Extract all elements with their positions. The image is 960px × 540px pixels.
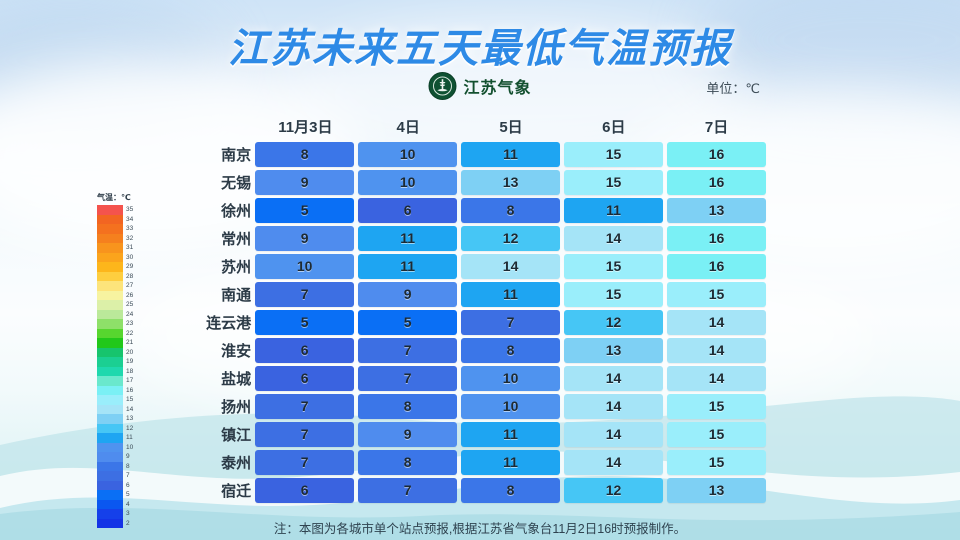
temperature-cell: 7 bbox=[255, 282, 354, 307]
legend-swatch bbox=[97, 310, 123, 320]
legend-value: 20 bbox=[126, 348, 133, 358]
temperature-cell: 14 bbox=[564, 366, 663, 391]
legend-entry: 7 bbox=[97, 471, 133, 481]
temperature-cell: 14 bbox=[564, 394, 663, 419]
legend-swatch bbox=[97, 329, 123, 339]
temperature-cell: 15 bbox=[564, 170, 663, 195]
legend-swatch bbox=[97, 500, 123, 510]
temperature-cell: 13 bbox=[564, 338, 663, 363]
legend-swatch bbox=[97, 291, 123, 301]
legend-value: 7 bbox=[126, 471, 130, 481]
temperature-cell: 8 bbox=[255, 142, 354, 167]
temperature-cell: 15 bbox=[667, 282, 766, 307]
legend-entry: 8 bbox=[97, 462, 133, 472]
legend-swatch bbox=[97, 481, 123, 491]
legend-swatch bbox=[97, 205, 123, 215]
legend-value: 29 bbox=[126, 262, 133, 272]
temperature-cell: 6 bbox=[358, 198, 457, 223]
column-header: 4日 bbox=[359, 116, 458, 137]
legend-entry: 14 bbox=[97, 405, 133, 415]
temperature-cell: 7 bbox=[358, 338, 457, 363]
legend-entry: 15 bbox=[97, 395, 133, 405]
city-label: 无锡 bbox=[170, 172, 255, 193]
temperature-cell: 14 bbox=[667, 366, 766, 391]
legend-value: 33 bbox=[126, 224, 133, 234]
legend-entry: 6 bbox=[97, 481, 133, 491]
table-row: 镇江79111415 bbox=[170, 420, 770, 448]
temperature-cell: 8 bbox=[461, 338, 560, 363]
temperature-cell: 8 bbox=[461, 198, 560, 223]
legend-swatch bbox=[97, 319, 123, 329]
temperature-cell: 7 bbox=[255, 450, 354, 475]
temperature-cell: 7 bbox=[358, 366, 457, 391]
city-label: 常州 bbox=[170, 228, 255, 249]
legend-swatch bbox=[97, 243, 123, 253]
temperature-cell: 9 bbox=[358, 282, 457, 307]
legend-entry: 22 bbox=[97, 329, 133, 339]
city-label: 南通 bbox=[170, 284, 255, 305]
forecast-table: 11月3日4日5日6日7日 南京810111516无锡910131516徐州56… bbox=[170, 112, 770, 504]
legend-swatch bbox=[97, 452, 123, 462]
legend-swatch bbox=[97, 300, 123, 310]
legend-swatch bbox=[97, 215, 123, 225]
legend-swatch bbox=[97, 281, 123, 291]
temperature-cell: 7 bbox=[255, 394, 354, 419]
city-label: 徐州 bbox=[170, 200, 255, 221]
legend-swatch bbox=[97, 471, 123, 481]
legend-swatch bbox=[97, 262, 123, 272]
legend-swatch bbox=[97, 405, 123, 415]
column-header: 6日 bbox=[564, 116, 663, 137]
temperature-cell: 11 bbox=[461, 450, 560, 475]
table-row: 苏州1011141516 bbox=[170, 252, 770, 280]
temperature-cell: 13 bbox=[461, 170, 560, 195]
legend-swatch bbox=[97, 490, 123, 500]
legend-swatch bbox=[97, 386, 123, 396]
legend-swatch bbox=[97, 376, 123, 386]
legend-swatch bbox=[97, 424, 123, 434]
legend-entry: 23 bbox=[97, 319, 133, 329]
legend-entry: 12 bbox=[97, 424, 133, 434]
legend-value: 8 bbox=[126, 462, 130, 472]
temperature-cell: 11 bbox=[358, 226, 457, 251]
legend-value: 34 bbox=[126, 215, 133, 225]
temperature-cell: 11 bbox=[461, 282, 560, 307]
legend-swatch bbox=[97, 462, 123, 472]
temperature-cell: 10 bbox=[461, 394, 560, 419]
temperature-cell: 5 bbox=[255, 310, 354, 335]
legend-entry: 5 bbox=[97, 490, 133, 500]
legend-value: 32 bbox=[126, 234, 133, 244]
legend-entry: 34 bbox=[97, 215, 133, 225]
temperature-cell: 15 bbox=[667, 422, 766, 447]
temperature-cell: 5 bbox=[358, 310, 457, 335]
brand-logo-label: 江苏气象 bbox=[463, 74, 531, 98]
forecast-infographic: 江苏未来五天最低气温预报 江苏气象 单位：℃ 11月3日4日5日6日7日 南京8… bbox=[0, 0, 960, 540]
legend-value: 35 bbox=[126, 205, 133, 215]
page-title: 江苏未来五天最低气温预报 bbox=[0, 16, 960, 74]
legend-swatch bbox=[97, 433, 123, 443]
legend-entry: 17 bbox=[97, 376, 133, 386]
legend-value: 18 bbox=[126, 367, 133, 377]
legend-entry: 21 bbox=[97, 338, 133, 348]
legend-value: 6 bbox=[126, 481, 130, 491]
legend-value: 15 bbox=[126, 395, 133, 405]
city-label: 镇江 bbox=[170, 424, 255, 445]
legend-swatch bbox=[97, 348, 123, 358]
legend-value: 23 bbox=[126, 319, 133, 329]
table-row: 南通79111515 bbox=[170, 280, 770, 308]
legend-entry: 35 bbox=[97, 205, 133, 215]
temperature-cell: 6 bbox=[255, 366, 354, 391]
temperature-cell: 10 bbox=[358, 170, 457, 195]
temperature-cell: 6 bbox=[255, 478, 354, 503]
legend-value: 26 bbox=[126, 291, 133, 301]
legend-value: 25 bbox=[126, 300, 133, 310]
temperature-cell: 12 bbox=[564, 310, 663, 335]
legend-value: 27 bbox=[126, 281, 133, 291]
temperature-cell: 15 bbox=[564, 142, 663, 167]
temperature-legend: 气温：℃ 35343332313029282726252423222120191… bbox=[97, 192, 133, 528]
table-row: 常州911121416 bbox=[170, 224, 770, 252]
legend-entry: 27 bbox=[97, 281, 133, 291]
table-row: 淮安6781314 bbox=[170, 336, 770, 364]
temperature-cell: 15 bbox=[564, 254, 663, 279]
temperature-cell: 7 bbox=[461, 310, 560, 335]
legend-value: 13 bbox=[126, 414, 133, 424]
temperature-cell: 9 bbox=[255, 226, 354, 251]
legend-scale: 3534333231302928272625242322212019181716… bbox=[97, 205, 133, 528]
jiangsu-meteorological-emblem-icon bbox=[428, 72, 456, 100]
legend-entry: 29 bbox=[97, 262, 133, 272]
temperature-cell: 8 bbox=[358, 450, 457, 475]
legend-value: 28 bbox=[126, 272, 133, 282]
column-header: 11月3日 bbox=[256, 116, 355, 137]
legend-title: 气温：℃ bbox=[97, 192, 133, 203]
table-header-row: 11月3日4日5日6日7日 bbox=[256, 112, 770, 140]
temperature-cell: 14 bbox=[564, 422, 663, 447]
legend-value: 24 bbox=[126, 310, 133, 320]
legend-swatch bbox=[97, 253, 123, 263]
legend-entry: 33 bbox=[97, 224, 133, 234]
legend-value: 10 bbox=[126, 443, 133, 453]
legend-value: 21 bbox=[126, 338, 133, 348]
legend-value: 30 bbox=[126, 253, 133, 263]
temperature-cell: 6 bbox=[255, 338, 354, 363]
column-header: 5日 bbox=[462, 116, 561, 137]
temperature-cell: 13 bbox=[667, 478, 766, 503]
temperature-cell: 9 bbox=[255, 170, 354, 195]
temperature-cell: 14 bbox=[667, 338, 766, 363]
legend-entry: 10 bbox=[97, 443, 133, 453]
city-label: 宿迁 bbox=[170, 480, 255, 501]
legend-value: 17 bbox=[126, 376, 133, 386]
legend-swatch bbox=[97, 443, 123, 453]
temperature-cell: 14 bbox=[667, 310, 766, 335]
temperature-cell: 7 bbox=[358, 478, 457, 503]
temperature-cell: 8 bbox=[358, 394, 457, 419]
city-label: 泰州 bbox=[170, 452, 255, 473]
table-row: 扬州78101415 bbox=[170, 392, 770, 420]
temperature-cell: 15 bbox=[564, 282, 663, 307]
temperature-cell: 14 bbox=[461, 254, 560, 279]
legend-entry: 4 bbox=[97, 500, 133, 510]
temperature-cell: 16 bbox=[667, 254, 766, 279]
city-label: 盐城 bbox=[170, 368, 255, 389]
legend-value: 31 bbox=[126, 243, 133, 253]
footer-note: 注：本图为各城市单个站点预报,根据江苏省气象台11月2日16时预报制作。 bbox=[0, 518, 960, 537]
legend-value: 22 bbox=[126, 329, 133, 339]
brand-logo: 江苏气象 bbox=[428, 72, 531, 100]
table-row: 南京810111516 bbox=[170, 140, 770, 168]
legend-entry: 30 bbox=[97, 253, 133, 263]
temperature-cell: 12 bbox=[461, 226, 560, 251]
legend-swatch bbox=[97, 414, 123, 424]
temperature-cell: 10 bbox=[255, 254, 354, 279]
temperature-cell: 11 bbox=[461, 422, 560, 447]
legend-entry: 9 bbox=[97, 452, 133, 462]
table-row: 徐州5681113 bbox=[170, 196, 770, 224]
legend-value: 16 bbox=[126, 386, 133, 396]
temperature-cell: 9 bbox=[358, 422, 457, 447]
legend-entry: 28 bbox=[97, 272, 133, 282]
city-label: 淮安 bbox=[170, 340, 255, 361]
temperature-cell: 5 bbox=[255, 198, 354, 223]
temperature-cell: 8 bbox=[461, 478, 560, 503]
table-row: 宿迁6781213 bbox=[170, 476, 770, 504]
legend-entry: 16 bbox=[97, 386, 133, 396]
logo-row: 江苏气象 bbox=[0, 72, 960, 102]
legend-value: 4 bbox=[126, 500, 130, 510]
legend-value: 11 bbox=[126, 433, 133, 443]
temperature-cell: 11 bbox=[564, 198, 663, 223]
table-row: 连云港5571214 bbox=[170, 308, 770, 336]
legend-swatch bbox=[97, 234, 123, 244]
city-label: 南京 bbox=[170, 144, 255, 165]
temperature-cell: 10 bbox=[358, 142, 457, 167]
unit-label: 单位：℃ bbox=[706, 78, 760, 97]
legend-value: 5 bbox=[126, 490, 130, 500]
legend-entry: 11 bbox=[97, 433, 133, 443]
legend-entry: 13 bbox=[97, 414, 133, 424]
legend-entry: 19 bbox=[97, 357, 133, 367]
city-label: 苏州 bbox=[170, 256, 255, 277]
legend-value: 12 bbox=[126, 424, 133, 434]
temperature-cell: 13 bbox=[667, 198, 766, 223]
legend-swatch bbox=[97, 395, 123, 405]
temperature-cell: 14 bbox=[564, 450, 663, 475]
legend-entry: 31 bbox=[97, 243, 133, 253]
city-label: 连云港 bbox=[170, 312, 255, 333]
temperature-cell: 14 bbox=[564, 226, 663, 251]
table-row: 泰州78111415 bbox=[170, 448, 770, 476]
table-row: 无锡910131516 bbox=[170, 168, 770, 196]
legend-swatch bbox=[97, 338, 123, 348]
legend-value: 14 bbox=[126, 405, 133, 415]
temperature-cell: 16 bbox=[667, 226, 766, 251]
temperature-cell: 16 bbox=[667, 142, 766, 167]
legend-entry: 32 bbox=[97, 234, 133, 244]
legend-swatch bbox=[97, 272, 123, 282]
table-body: 南京810111516无锡910131516徐州5681113常州9111214… bbox=[170, 140, 770, 504]
temperature-cell: 15 bbox=[667, 394, 766, 419]
temperature-cell: 15 bbox=[667, 450, 766, 475]
legend-entry: 26 bbox=[97, 291, 133, 301]
legend-value: 9 bbox=[126, 452, 130, 462]
temperature-cell: 12 bbox=[564, 478, 663, 503]
temperature-cell: 16 bbox=[667, 170, 766, 195]
legend-entry: 18 bbox=[97, 367, 133, 377]
legend-entry: 24 bbox=[97, 310, 133, 320]
legend-entry: 25 bbox=[97, 300, 133, 310]
column-header: 7日 bbox=[667, 116, 766, 137]
legend-swatch bbox=[97, 357, 123, 367]
city-label: 扬州 bbox=[170, 396, 255, 417]
legend-entry: 20 bbox=[97, 348, 133, 358]
temperature-cell: 10 bbox=[461, 366, 560, 391]
temperature-cell: 7 bbox=[255, 422, 354, 447]
legend-swatch bbox=[97, 224, 123, 234]
legend-swatch bbox=[97, 367, 123, 377]
legend-value: 19 bbox=[126, 357, 133, 367]
temperature-cell: 11 bbox=[461, 142, 560, 167]
table-row: 盐城67101414 bbox=[170, 364, 770, 392]
temperature-cell: 11 bbox=[358, 254, 457, 279]
